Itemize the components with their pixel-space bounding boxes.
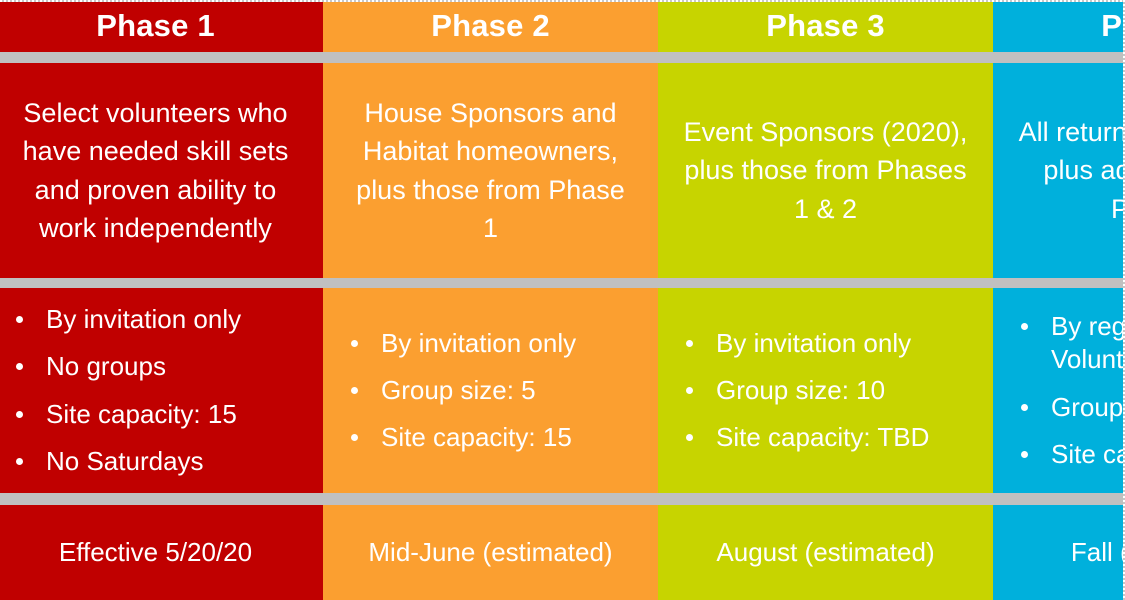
phase-rules-list-2: By invitation only Group size: 5 Site ca… — [345, 327, 648, 455]
row-separator-3-col-2 — [323, 493, 658, 505]
phase-header-3: Phase 3 — [658, 0, 993, 52]
phase-header-4: Phase 4 — [993, 0, 1125, 52]
row-separator-1-col-1 — [0, 52, 323, 63]
list-item: No Saturdays — [10, 445, 313, 478]
phase-timing-1: Effective 5/20/20 — [0, 505, 323, 600]
row-separator-1-col-2 — [323, 52, 658, 63]
phase-timing-3: August (estimated) — [658, 505, 993, 600]
phase-header-label-3: Phase 3 — [766, 9, 885, 43]
list-item: Site capacity: 15 — [345, 421, 648, 454]
row-separator-3-col-3 — [658, 493, 993, 505]
phase-description-2: House Sponsors and Habitat homeowners, p… — [323, 63, 658, 278]
phase-timing-2: Mid-June (estimated) — [323, 505, 658, 600]
phase-rules-4: By registration, Volunteer Hub Group siz… — [993, 288, 1125, 493]
list-item: By invitation only — [345, 327, 648, 360]
phase-header-2: Phase 2 — [323, 0, 658, 52]
phase-header-label-1: Phase 1 — [96, 9, 215, 43]
list-item: Group size: 5 — [345, 374, 648, 407]
phase-description-text-3: Event Sponsors (2020), plus those from P… — [680, 113, 971, 228]
phase-rules-1: By invitation only No groups Site capaci… — [0, 288, 323, 493]
row-separator-1-col-3 — [658, 52, 993, 63]
phase-timing-text-4: Fall (estimated) — [1071, 536, 1125, 570]
row-separator-2-col-2 — [323, 278, 658, 288]
phase-comparison-table: Phase 1 Phase 2 Phase 3 Phase 4 Select v… — [0, 0, 1125, 600]
phase-plan-slide: Phase 1 Phase 2 Phase 3 Phase 4 Select v… — [0, 0, 1125, 600]
list-item: Site capacity: TBD — [680, 421, 983, 454]
list-item: Site capacity: TBD — [1015, 438, 1125, 471]
list-item: Site capacity: 15 — [10, 398, 313, 431]
phase-timing-text-2: Mid-June (estimated) — [368, 536, 612, 570]
list-item: No groups — [10, 350, 313, 383]
phase-rules-list-1: By invitation only No groups Site capaci… — [10, 303, 313, 478]
row-separator-3-col-4 — [993, 493, 1125, 505]
list-item: By registration, Volunteer Hub — [1015, 310, 1125, 377]
phase-description-3: Event Sponsors (2020), plus those from P… — [658, 63, 993, 278]
phase-rules-3: By invitation only Group size: 10 Site c… — [658, 288, 993, 493]
list-item: Group size: 15 — [1015, 391, 1125, 424]
phase-header-label-4: Phase 4 — [1101, 9, 1125, 43]
phase-header-1: Phase 1 — [0, 0, 323, 52]
phase-rules-2: By invitation only Group size: 5 Site ca… — [323, 288, 658, 493]
phase-description-1: Select volunteers who have needed skill … — [0, 63, 323, 278]
phase-description-4: All returning volunteers, plus additiona… — [993, 63, 1125, 278]
phase-timing-text-1: Effective 5/20/20 — [59, 536, 252, 570]
row-separator-2-col-1 — [0, 278, 323, 288]
phase-timing-4: Fall (estimated) — [993, 505, 1125, 600]
phase-description-text-4: All returning volunteers, plus additiona… — [1015, 113, 1125, 228]
phase-timing-text-3: August (estimated) — [716, 536, 934, 570]
row-separator-1-col-4 — [993, 52, 1125, 63]
phase-description-text-2: House Sponsors and Habitat homeowners, p… — [345, 94, 636, 247]
row-separator-3-col-1 — [0, 493, 323, 505]
list-item: By invitation only — [10, 303, 313, 336]
list-item: By invitation only — [680, 327, 983, 360]
phase-rules-list-3: By invitation only Group size: 10 Site c… — [680, 327, 983, 455]
phase-description-text-1: Select volunteers who have needed skill … — [10, 94, 301, 247]
row-separator-2-col-4 — [993, 278, 1125, 288]
phase-rules-list-4: By registration, Volunteer Hub Group siz… — [1015, 310, 1125, 471]
phase-header-label-2: Phase 2 — [431, 9, 550, 43]
row-separator-2-col-3 — [658, 278, 993, 288]
list-item: Group size: 10 — [680, 374, 983, 407]
